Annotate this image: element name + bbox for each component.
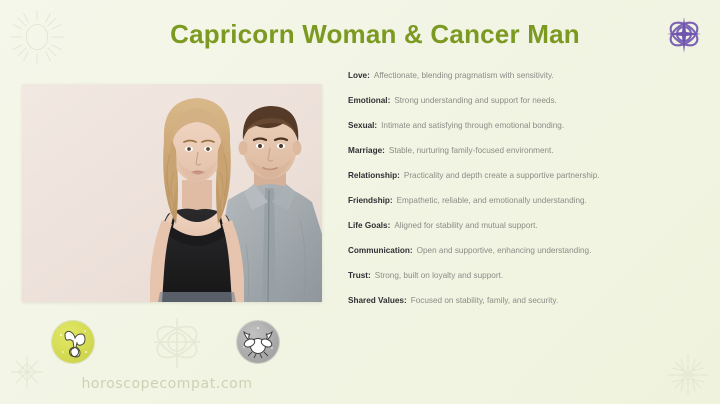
trait-row: Marriage: Stable, nurturing family-focus…: [348, 147, 708, 172]
trait-text: Open and supportive, enhancing understan…: [417, 247, 592, 255]
page-title: Capricorn Woman & Cancer Man: [110, 20, 640, 50]
site-watermark: horoscopecompat.com: [52, 376, 282, 392]
trait-text: Strong, built on loyalty and support.: [375, 272, 503, 280]
trait-label: Trust:: [348, 272, 371, 280]
trait-label: Communication:: [348, 247, 413, 255]
sun-burst-icon: [8, 8, 66, 66]
trait-text: Strong understanding and support for nee…: [394, 97, 557, 105]
trait-label: Sexual:: [348, 122, 377, 130]
badge-capricorn[interactable]: [52, 321, 94, 363]
trait-row: Sexual: Intimate and satisfying through …: [348, 122, 708, 147]
trait-row: Love: Affectionate, blending pragmatism …: [348, 72, 708, 97]
sparkle-star-icon: [10, 355, 44, 389]
trait-text: Affectionate, blending pragmatism with s…: [374, 72, 554, 80]
compatibility-traits-list: Love: Affectionate, blending pragmatism …: [348, 72, 708, 322]
trait-label: Friendship:: [348, 197, 393, 205]
trait-text: Stable, nurturing family-focused environ…: [389, 147, 554, 155]
trait-label: Shared Values:: [348, 297, 407, 305]
trait-row: Shared Values: Focused on stability, fam…: [348, 297, 708, 322]
trait-label: Relationship:: [348, 172, 400, 180]
badge-cancer[interactable]: [237, 321, 279, 363]
trait-row: Trust: Strong, built on loyalty and supp…: [348, 272, 708, 297]
trait-text: Intimate and satisfying through emotiona…: [381, 122, 564, 130]
trait-row: Friendship: Empathetic, reliable, and em…: [348, 197, 708, 222]
trait-text: Aligned for stability and mutual support…: [394, 222, 537, 230]
trait-label: Marriage:: [348, 147, 385, 155]
trait-row: Life Goals: Aligned for stability and mu…: [348, 222, 708, 247]
slide-canvas: Capricorn Woman & Cancer Man: [0, 0, 720, 404]
sparkle-star-icon: [668, 355, 708, 395]
photo-illustration: [22, 84, 322, 302]
brand-logo-icon[interactable]: [658, 8, 710, 60]
trait-text: Focused on stability, family, and securi…: [411, 297, 558, 305]
trait-text: Practicality and depth create a supporti…: [404, 172, 600, 180]
trait-label: Emotional:: [348, 97, 390, 105]
couple-photo: [22, 84, 322, 302]
trait-label: Love:: [348, 72, 370, 80]
trait-label: Life Goals:: [348, 222, 390, 230]
watermark-brand-icon: [138, 314, 216, 370]
trait-row: Relationship: Practicality and depth cre…: [348, 172, 708, 197]
trait-row: Emotional: Strong understanding and supp…: [348, 97, 708, 122]
trait-row: Communication: Open and supportive, enha…: [348, 247, 708, 272]
trait-text: Empathetic, reliable, and emotionally un…: [397, 197, 587, 205]
